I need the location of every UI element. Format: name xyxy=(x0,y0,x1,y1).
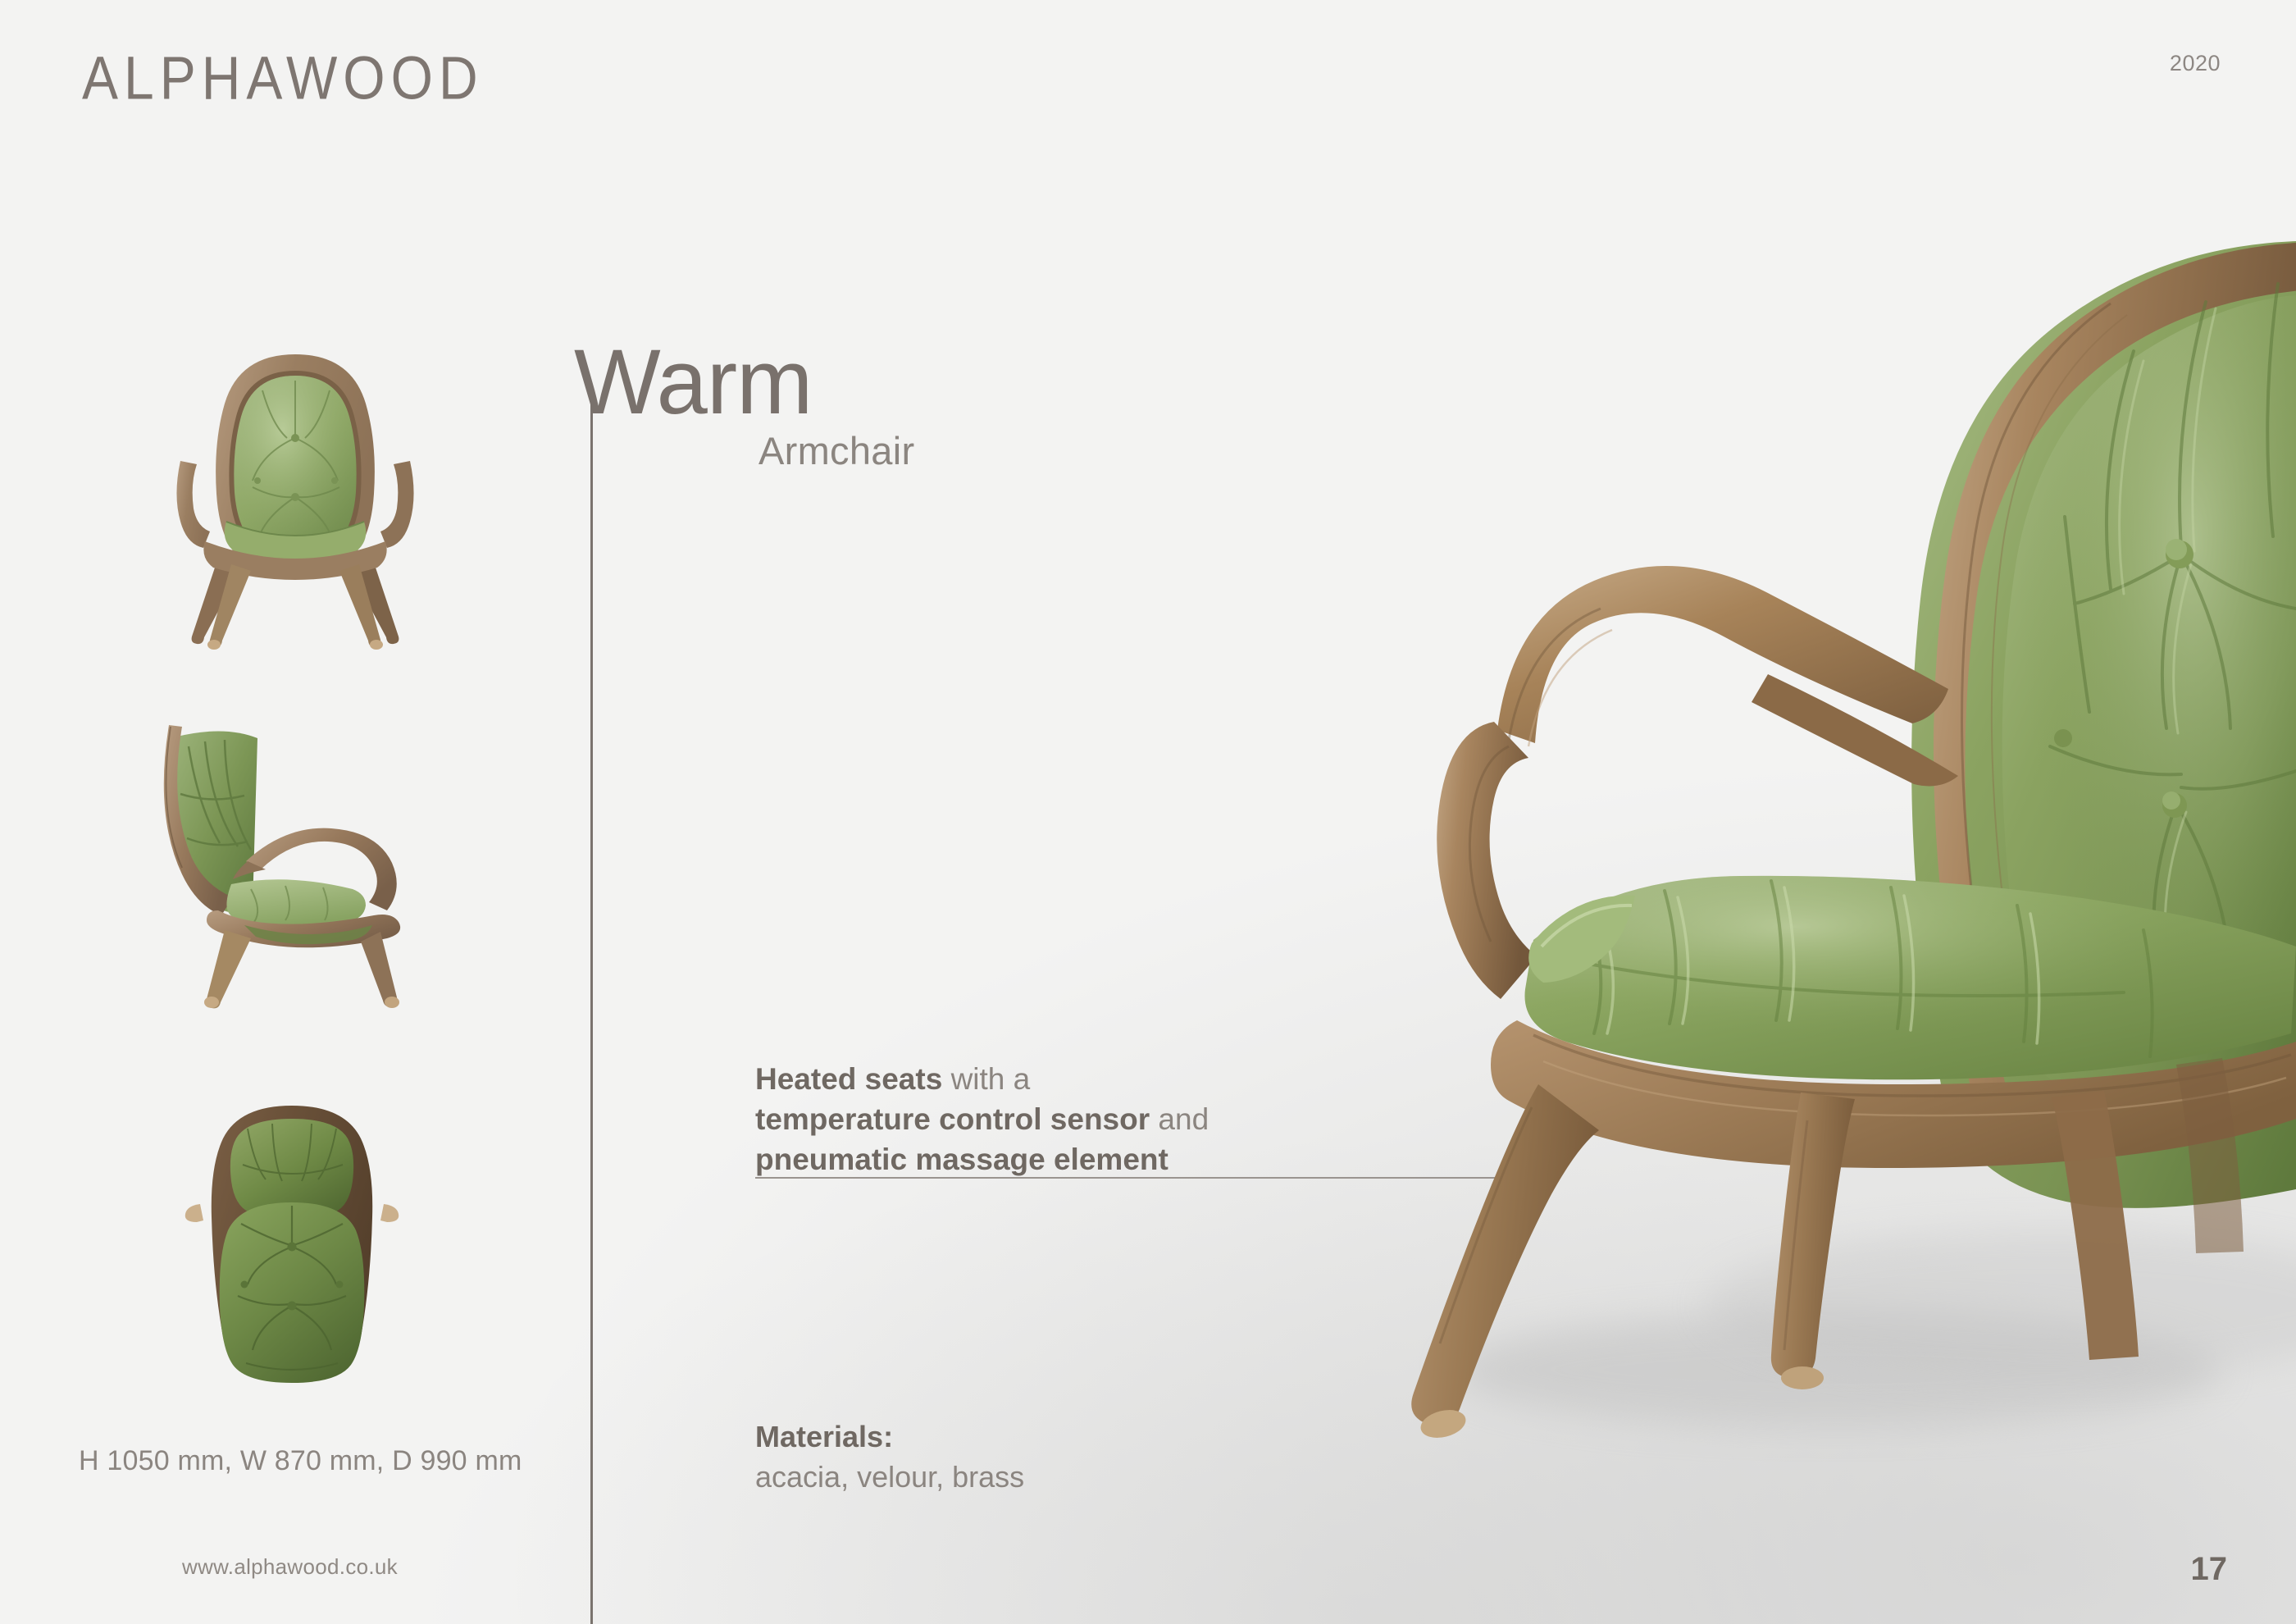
catalog-year: 2020 xyxy=(2170,51,2221,76)
feature-heated-seats: Heated seats xyxy=(755,1062,942,1096)
feature-connector-1: with a xyxy=(942,1062,1030,1096)
feature-connector-2: and xyxy=(1150,1102,1209,1136)
thumbnail-side-view[interactable] xyxy=(146,715,448,1017)
materials-label: Materials: xyxy=(755,1417,1024,1457)
product-subtitle: Armchair xyxy=(758,428,914,473)
page-title: Warm xyxy=(574,336,812,428)
hero-product-image xyxy=(1312,90,2296,1558)
feature-temperature-sensor: temperature control sensor xyxy=(755,1102,1150,1136)
vertical-divider-rule xyxy=(590,385,593,1624)
catalog-page: ALPHAWOOD 2020 Warm Armchair Heated seat… xyxy=(0,0,2296,1624)
thumbnail-top-view[interactable] xyxy=(156,1101,426,1389)
materials-value: acacia, velour, brass xyxy=(755,1457,1024,1498)
materials-block: Materials: acacia, velour, brass xyxy=(755,1417,1024,1498)
feature-massage-element: pneumatic massage element xyxy=(755,1143,1168,1176)
feature-callout: Heated seats with a temperature control … xyxy=(755,1059,1346,1180)
website-url: www.alphawood.co.uk xyxy=(182,1554,398,1580)
product-dimensions: H 1050 mm, W 870 mm, D 990 mm xyxy=(79,1445,522,1477)
brand-logo: ALPHAWOOD xyxy=(82,43,484,112)
thumbnail-front-view[interactable] xyxy=(156,348,435,651)
